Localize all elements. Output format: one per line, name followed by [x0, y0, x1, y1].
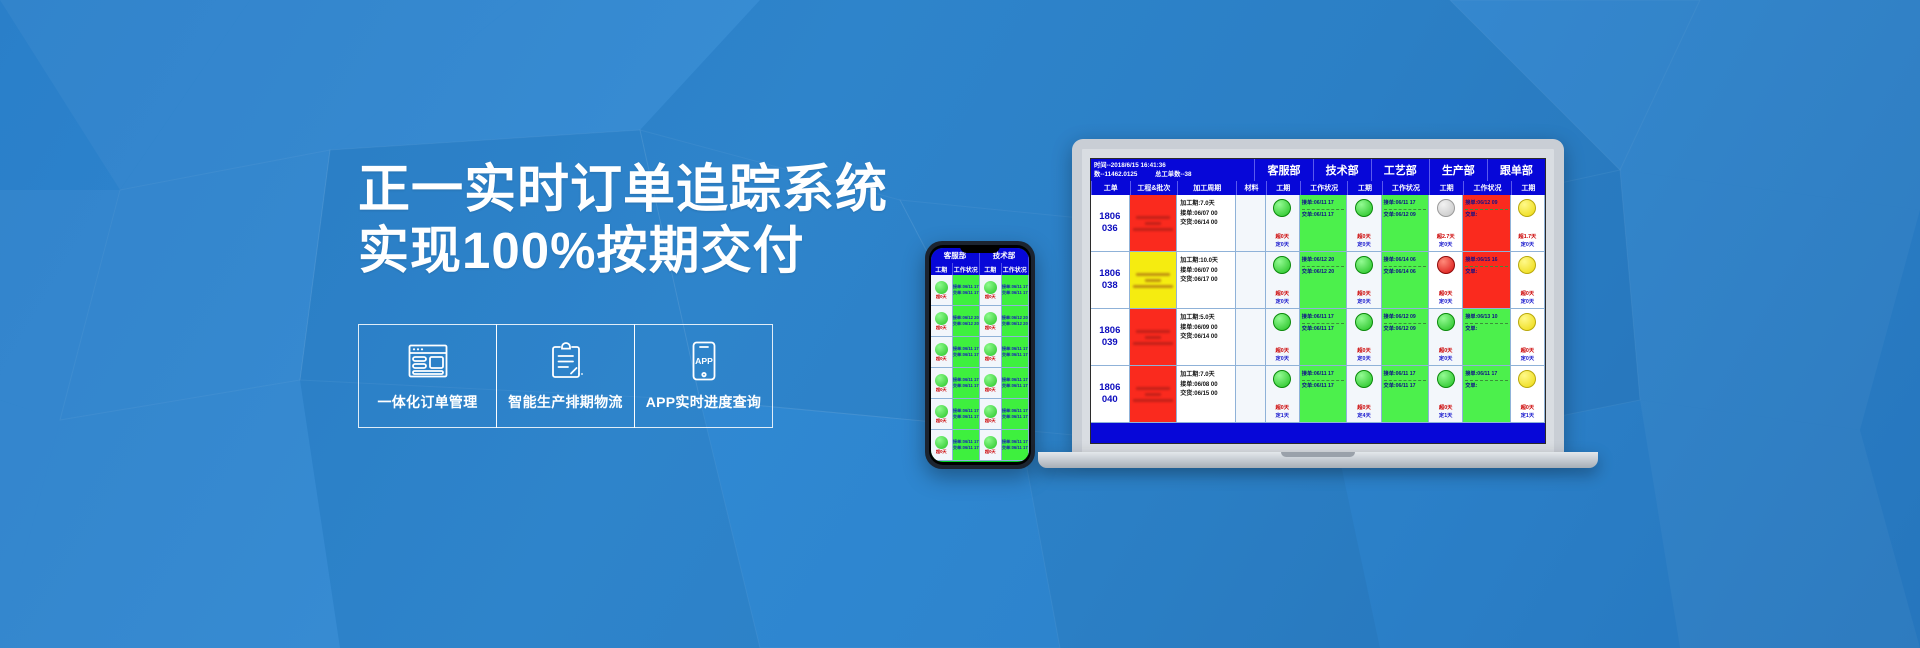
id-line2: 038	[1102, 280, 1118, 292]
planned-tag: 定0天	[1521, 299, 1535, 307]
phone-col-1: 工作状况	[953, 263, 980, 275]
department-header-4: 跟单部	[1487, 159, 1545, 181]
column-header-row: 工单工程&批次加工周期材料工期工作状况工期工作状况工期工作状况工期工作状况工期工…	[1091, 181, 1545, 195]
work-status-cell: 接单:交单:	[1545, 195, 1546, 251]
status-indicator-green	[1355, 256, 1373, 274]
status-indicator-yellow	[1518, 313, 1536, 331]
duration-cell: 超0天定1天	[1266, 366, 1300, 422]
received-date: 接单:06/11 17	[1302, 199, 1345, 207]
phone-status-cell: 接单:06/11 17交单:06/11 17	[1002, 275, 1029, 305]
duration-cell: 超0天定0天	[1347, 309, 1381, 365]
divider	[1302, 380, 1345, 381]
feature-item-order-management[interactable]: 一体化订单管理	[358, 324, 497, 428]
mobile-device-mockup: 客服部 技术部 工期 工作状况 工期 工作状况 超0天接单:06/11 17交单…	[925, 241, 1035, 469]
planned-tag: 定0天	[1357, 356, 1371, 364]
received-date: 接单:06/11 17	[1384, 199, 1427, 207]
delivered-date: 交单:	[1465, 382, 1508, 390]
work-order-id: 1806036	[1091, 195, 1130, 251]
overdue-tag: 超0天	[936, 356, 947, 362]
dashboard-meta-bar: 时间--2018/6/15 16:41:36 数--11462.0125 总工单…	[1091, 159, 1545, 181]
dashboard-window-icon	[408, 339, 448, 383]
phone-status-cell: 接单:06/12 20交单:06/12 20	[1002, 306, 1029, 336]
divider	[1465, 266, 1508, 267]
material-cell	[1236, 252, 1266, 308]
received-date: 接单:06/12 09	[1384, 313, 1427, 321]
overdue-tag: 超0天	[936, 294, 947, 300]
duration-cell: 超0天定0天	[1347, 195, 1381, 251]
duration-cell: 超2.7天定0天	[1429, 195, 1463, 251]
divider	[1384, 323, 1427, 324]
work-status-cell: 接单:06/15 16交单:	[1463, 252, 1511, 308]
work-status-cell: 接单:06/14 06交单:06/14 06	[1382, 252, 1430, 308]
cycle-line-1: 接单:06/08 00	[1180, 381, 1232, 390]
column-header-10: 工期	[1511, 181, 1545, 195]
planned-tag: 定0天	[1357, 299, 1371, 307]
department-header-1: 技术部	[1313, 159, 1371, 181]
delivered-date: 交单:06/11 17	[1002, 383, 1028, 389]
status-indicator-green	[984, 405, 997, 418]
phone-duration-cell: 超0天	[931, 275, 953, 305]
planned-tag: 定0天	[1439, 299, 1453, 307]
feature-label: APP实时进度查询	[646, 392, 762, 412]
app-icon-text: APP	[695, 356, 713, 366]
redacted-text	[1145, 279, 1161, 282]
delivered-date: 交单:06/11 17	[1002, 445, 1028, 451]
status-indicator-green	[935, 343, 948, 356]
status-indicator-green	[1273, 199, 1291, 217]
dashboard-count: 数--11462.0125	[1094, 171, 1137, 178]
overdue-tag: 超0天	[936, 449, 947, 455]
column-header-7: 工作状况	[1382, 181, 1430, 195]
planned-tag: 定0天	[1518, 242, 1536, 250]
divider	[1465, 209, 1508, 210]
status-indicator-green	[1437, 313, 1455, 331]
project-batch-cell	[1130, 252, 1178, 308]
redacted-text	[1136, 387, 1170, 390]
department-header-2: 工艺部	[1371, 159, 1429, 181]
redacted-text	[1136, 216, 1170, 219]
id-line1: 1806	[1099, 325, 1120, 337]
duration-cell: 超1.7天定0天	[1511, 195, 1545, 251]
duration-cell: 超0天定0天	[1266, 252, 1300, 308]
planned-tag: 定0天	[1276, 299, 1290, 307]
planned-tag: 定0天	[1437, 242, 1455, 250]
work-status-cell: 接单:06/13 10交单:	[1463, 309, 1511, 365]
feature-label: 智能生产排期物流	[508, 392, 622, 412]
laptop-lid: 时间--2018/6/15 16:41:36 数--11462.0125 总工单…	[1072, 139, 1564, 452]
status-indicator-green	[1355, 370, 1373, 388]
cycle-line-1: 接单:06/07 00	[1180, 267, 1232, 276]
cycle-line-0: 加工期:7.0天	[1180, 371, 1232, 380]
processing-cycle-cell: 加工期:7.0天接单:06/08 00交货:06/15 00	[1177, 366, 1236, 422]
delivered-date: 交单:06/12 09	[1384, 325, 1427, 333]
delivered-date: 交单:06/11 17	[953, 383, 979, 389]
planned-tag: 定0天	[1521, 356, 1535, 364]
phone-duration-cell: 超0天	[980, 399, 1002, 429]
status-indicator-green	[935, 405, 948, 418]
delivered-date: 交单:06/12 09	[1384, 211, 1427, 219]
cycle-line-0: 加工期:7.0天	[1180, 200, 1232, 209]
feature-list: 一体化订单管理 智能生产排期物流	[358, 324, 878, 428]
phone-duration-cell: 超0天	[980, 337, 1002, 367]
status-indicator-green	[935, 312, 948, 325]
dashboard-time: 时间--2018/6/15 16:41:36	[1094, 161, 1251, 170]
received-date: 接单:06/11 17	[1302, 313, 1345, 321]
duration-cell: 超0天定0天	[1429, 252, 1463, 308]
mobile-app-icon: APP	[690, 339, 718, 383]
work-status-cell: 接单:06/11 17交单:06/11 17	[1300, 309, 1348, 365]
processing-cycle-cell: 加工期:10.0天接单:06/07 00交货:06/17 00	[1177, 252, 1236, 308]
divider	[1465, 323, 1508, 324]
department-header-3: 生产部	[1429, 159, 1487, 181]
feature-label: 一体化订单管理	[377, 392, 477, 412]
status-indicator-green	[984, 281, 997, 294]
duration-cell: 超0天定0天	[1511, 309, 1545, 365]
phone-status-cell: 接单:06/11 17交单:06/11 17	[1002, 399, 1029, 429]
redacted-text	[1133, 228, 1173, 231]
phone-body: 客服部 技术部 工期 工作状况 工期 工作状况 超0天接单:06/11 17交单…	[929, 245, 1031, 465]
status-indicator-green	[984, 312, 997, 325]
delivered-date: 交单:06/11 17	[1002, 290, 1028, 296]
delivered-date: 交单:	[1465, 268, 1508, 276]
cycle-line-2: 交货:06/17 00	[1180, 276, 1232, 285]
received-date: 接单:06/12 20	[1302, 256, 1345, 264]
divider	[1302, 266, 1345, 267]
column-header-1: 工程&批次	[1130, 181, 1178, 195]
overdue-tag: 超0天	[985, 294, 996, 300]
status-indicator-green	[1273, 313, 1291, 331]
feature-item-smart-scheduling[interactable]: 智能生产排期物流	[496, 324, 635, 428]
phone-status-cell: 接单:06/11 17交单:06/11 17	[953, 368, 980, 398]
redacted-text	[1133, 399, 1173, 402]
id-line2: 040	[1102, 394, 1118, 406]
divider	[1302, 323, 1345, 324]
status-indicator-yellow	[1518, 256, 1536, 274]
phone-duration-cell: 超0天	[931, 368, 953, 398]
status-indicator-green	[1355, 199, 1373, 217]
overdue-tag: 超0天	[985, 449, 996, 455]
status-indicator-green	[935, 436, 948, 449]
planned-tag: 定4天	[1357, 413, 1371, 421]
phone-table-row[interactable]: 超0天接单:06/11 17交单:06/11 17超0天接单:06/11 17交…	[931, 275, 1029, 306]
cycle-line-0: 加工期:5.0天	[1180, 314, 1232, 323]
page-title-line2: 实现100%按期交付	[358, 221, 878, 281]
delivered-date: 交单:06/12 20	[1302, 268, 1345, 276]
id-line2: 036	[1102, 223, 1118, 235]
redacted-text	[1133, 285, 1173, 288]
column-header-3: 材料	[1236, 181, 1266, 195]
phone-duration-cell: 超0天	[980, 430, 1002, 460]
phone-table-row[interactable]: 超0天接单:06/11 17交单:06/11 17超0天接单:06/11 17交…	[931, 399, 1029, 430]
phone-notch	[960, 245, 1000, 253]
status-indicator-green	[1273, 370, 1291, 388]
work-status-cell: 接单:06/12 09交单:06/12 09	[1382, 309, 1430, 365]
received-date: 接单:06/11 17	[1384, 370, 1427, 378]
table-row[interactable]: 1806038加工期:10.0天接单:06/07 00交货:06/17 00超0…	[1091, 252, 1545, 309]
work-status-cell: 接单:06/11 17交单:	[1463, 366, 1511, 422]
feature-item-app-progress[interactable]: APP APP实时进度查询	[634, 324, 773, 428]
phone-status-cell: 接单:06/11 17交单:06/11 17	[953, 337, 980, 367]
work-status-cell: 接单:06/12 09交单:	[1463, 195, 1511, 251]
redacted-text	[1145, 222, 1161, 225]
phone-table-row[interactable]: 超0天接单:06/11 17交单:06/11 17超0天接单:06/11 17交…	[931, 368, 1029, 399]
planned-tag: 定0天	[1357, 242, 1371, 250]
planned-tag: 定0天	[1276, 356, 1290, 364]
planned-tag: 定1天	[1439, 413, 1453, 421]
processing-cycle-cell: 加工期:7.0天接单:06/07 00交货:06/14 00	[1177, 195, 1236, 251]
clipboard-pencil-icon	[549, 339, 583, 383]
overdue-tag: 超0天	[936, 387, 947, 393]
dashboard-row-list: 1806036加工期:7.0天接单:06/07 00交货:06/14 00超0天…	[1091, 195, 1545, 423]
work-status-cell: 接单:交单:	[1545, 366, 1546, 422]
divider	[1384, 209, 1427, 210]
delivered-date: 交单:06/11 17	[953, 352, 979, 358]
delivered-date: 交单:06/11 17	[1302, 325, 1345, 333]
divider	[1384, 380, 1427, 381]
redacted-text	[1145, 393, 1161, 396]
work-order-id: 1806039	[1091, 309, 1130, 365]
delivered-date: 交单:06/11 17	[1302, 211, 1345, 219]
status-indicator-gray	[1437, 199, 1455, 217]
planned-tag: 定1天	[1521, 413, 1535, 421]
delivered-date: 交单:06/12 20	[953, 321, 979, 327]
delivered-date: 交单:	[1465, 211, 1508, 219]
planned-tag: 定0天	[1276, 242, 1290, 250]
planned-tag: 定1天	[1276, 413, 1290, 421]
phone-status-cell: 接单:06/11 17交单:06/11 17	[1002, 430, 1029, 460]
delivered-date: 交单:06/12 20	[1002, 321, 1028, 327]
column-header-4: 工期	[1266, 181, 1300, 195]
id-line2: 039	[1102, 337, 1118, 349]
processing-cycle-cell: 加工期:5.0天接单:06/09 00交货:06/14 00	[1177, 309, 1236, 365]
column-header-0: 工单	[1091, 181, 1130, 195]
phone-status-cell: 接单:06/11 17交单:06/11 17	[953, 399, 980, 429]
phone-duration-cell: 超0天	[980, 275, 1002, 305]
status-indicator-green	[935, 374, 948, 387]
phone-status-cell: 接单:06/12 20交单:06/12 20	[953, 306, 980, 336]
column-header-8: 工期	[1429, 181, 1463, 195]
duration-cell: 超0天定0天	[1347, 252, 1381, 308]
phone-row-list: 超0天接单:06/11 17交单:06/11 17超0天接单:06/11 17交…	[931, 275, 1029, 461]
phone-duration-cell: 超0天	[931, 399, 953, 429]
material-cell	[1236, 366, 1266, 422]
id-line1: 1806	[1099, 382, 1120, 394]
duration-cell: 超0天定0天	[1266, 309, 1300, 365]
laptop-device-mockup: 时间--2018/6/15 16:41:36 数--11462.0125 总工单…	[1038, 139, 1598, 468]
planned-tag: 定0天	[1439, 356, 1453, 364]
phone-duration-cell: 超0天	[980, 306, 1002, 336]
phone-table-row[interactable]: 超0天接单:06/12 20交单:06/12 20超0天接单:06/12 20交…	[931, 306, 1029, 337]
work-status-cell: 接单:交单:	[1545, 252, 1546, 308]
phone-col-2: 工期	[980, 263, 1002, 275]
overdue-tag: 超0天	[985, 325, 996, 331]
delivered-date: 交单:	[1465, 325, 1508, 333]
work-status-cell: 接单:06/11 17交单:06/11 17	[1300, 366, 1348, 422]
overdue-tag: 超0天	[985, 387, 996, 393]
work-status-cell: 接单:06/11 17交单:06/12 09	[1382, 195, 1430, 251]
material-cell	[1236, 309, 1266, 365]
duration-cell: 超0天定1天	[1429, 366, 1463, 422]
phone-status-cell: 接单:06/11 17交单:06/11 17	[953, 430, 980, 460]
column-header-6: 工期	[1347, 181, 1381, 195]
phone-col-0: 工期	[931, 263, 953, 275]
project-batch-cell	[1130, 366, 1178, 422]
dashboard-meta-left: 时间--2018/6/15 16:41:36 数--11462.0125 总工单…	[1091, 159, 1254, 181]
material-cell	[1236, 195, 1266, 251]
redacted-text	[1136, 330, 1170, 333]
status-indicator-green	[984, 343, 997, 356]
delivered-date: 交单:06/11 17	[1384, 382, 1427, 390]
status-indicator-green	[984, 374, 997, 387]
column-header-2: 加工周期	[1177, 181, 1236, 195]
cycle-line-1: 接单:06/09 00	[1180, 324, 1232, 333]
column-header-9: 工作状况	[1463, 181, 1511, 195]
table-row[interactable]: 1806040加工期:7.0天接单:06/08 00交货:06/15 00超0天…	[1091, 366, 1545, 423]
status-indicator-green	[1355, 313, 1373, 331]
phone-status-cell: 接单:06/11 17交单:06/11 17	[1002, 368, 1029, 398]
delivered-date: 交单:06/14 06	[1384, 268, 1427, 276]
status-indicator-red	[1437, 256, 1455, 274]
work-status-cell: 接单:交单:	[1545, 309, 1546, 365]
department-header-row: 客服部技术部工艺部生产部跟单部	[1254, 159, 1545, 181]
project-batch-cell	[1130, 309, 1178, 365]
delivered-date: 交单:06/11 17	[1002, 414, 1028, 420]
id-line1: 1806	[1099, 211, 1120, 223]
phone-col-3: 工作状况	[1002, 263, 1029, 275]
id-line1: 1806	[1099, 268, 1120, 280]
phone-duration-cell: 超0天	[931, 430, 953, 460]
dashboard-total: 总工单数--38	[1155, 171, 1191, 178]
status-indicator-yellow	[1518, 199, 1536, 217]
duration-cell: 超0天定0天	[1429, 309, 1463, 365]
phone-screen[interactable]: 客服部 技术部 工期 工作状况 工期 工作状况 超0天接单:06/11 17交单…	[931, 248, 1029, 462]
status-indicator-green	[1437, 370, 1455, 388]
dashboard-counts: 数--11462.0125 总工单数--38	[1094, 170, 1251, 179]
overdue-tag: 超0天	[936, 418, 947, 424]
table-row[interactable]: 1806039加工期:5.0天接单:06/09 00交货:06/14 00超0天…	[1091, 309, 1545, 366]
received-date: 接单:06/11 17	[1302, 370, 1345, 378]
overdue-tag: 超0天	[936, 325, 947, 331]
phone-status-cell: 接单:06/11 17交单:06/11 17	[953, 275, 980, 305]
delivered-date: 交单:06/11 17	[953, 290, 979, 296]
divider	[1465, 380, 1508, 381]
overdue-tag: 超0天	[985, 418, 996, 424]
department-header-0: 客服部	[1254, 159, 1312, 181]
received-date: 接单:06/11 17	[1465, 370, 1508, 378]
work-status-cell: 接单:06/12 20交单:06/12 20	[1300, 252, 1348, 308]
duration-cell: 超0天定4天	[1347, 366, 1381, 422]
received-date: 接单:06/12 09	[1465, 199, 1508, 207]
cycle-line-2: 交货:06/15 00	[1180, 390, 1232, 399]
duration-cell: 超0天定0天	[1511, 252, 1545, 308]
work-status-cell: 接单:06/11 17交单:06/11 17	[1382, 366, 1430, 422]
cycle-line-2: 交货:06/14 00	[1180, 333, 1232, 342]
phone-duration-cell: 超0天	[931, 306, 953, 336]
column-header-5: 工作状况	[1300, 181, 1348, 195]
work-order-id: 1806040	[1091, 366, 1130, 422]
project-batch-cell	[1130, 195, 1178, 251]
laptop-screen[interactable]: 时间--2018/6/15 16:41:36 数--11462.0125 总工单…	[1090, 158, 1546, 444]
phone-duration-cell: 超0天	[931, 337, 953, 367]
delivered-date: 交单:06/11 17	[1302, 382, 1345, 390]
redacted-text	[1136, 273, 1170, 276]
received-date: 接单:06/15 16	[1465, 256, 1508, 264]
column-header-11: 工作状况	[1545, 181, 1546, 195]
status-indicator-green	[1273, 256, 1291, 274]
received-date: 接单:06/14 06	[1384, 256, 1427, 264]
phone-table-row[interactable]: 超0天接单:06/11 17交单:06/11 17超0天接单:06/11 17交…	[931, 430, 1029, 461]
phone-table-row[interactable]: 超0天接单:06/11 17交单:06/11 17超0天接单:06/11 17交…	[931, 337, 1029, 368]
phone-duration-cell: 超0天	[980, 368, 1002, 398]
redacted-text	[1133, 342, 1173, 345]
divider	[1384, 266, 1427, 267]
duration-cell: 超0天定0天	[1266, 195, 1300, 251]
divider	[1302, 209, 1345, 210]
work-status-cell: 接单:06/11 17交单:06/11 17	[1300, 195, 1348, 251]
status-indicator-green	[935, 281, 948, 294]
page-title-line1: 正一实时订单追踪系统	[358, 160, 878, 221]
status-indicator-green	[984, 436, 997, 449]
phone-column-header: 工期 工作状况 工期 工作状况	[931, 263, 1029, 275]
delivered-date: 交单:06/11 17	[953, 445, 979, 451]
table-row[interactable]: 1806036加工期:7.0天接单:06/07 00交货:06/14 00超0天…	[1091, 195, 1545, 252]
work-order-id: 1806038	[1091, 252, 1130, 308]
order-tracking-dashboard: 时间--2018/6/15 16:41:36 数--11462.0125 总工单…	[1091, 159, 1545, 423]
status-indicator-yellow	[1518, 370, 1536, 388]
laptop-base	[1038, 452, 1598, 468]
phone-status-cell: 接单:06/11 17交单:06/11 17	[1002, 337, 1029, 367]
delivered-date: 交单:06/11 17	[953, 414, 979, 420]
redacted-text	[1145, 336, 1161, 339]
delivered-date: 交单:06/11 17	[1002, 352, 1028, 358]
received-date: 接单:06/13 10	[1465, 313, 1508, 321]
cycle-line-1: 接单:06/07 00	[1180, 210, 1232, 219]
hero-copy: 正一实时订单追踪系统 实现100%按期交付 一体化订单管理	[358, 160, 878, 428]
duration-cell: 超0天定1天	[1511, 366, 1545, 422]
cycle-line-0: 加工期:10.0天	[1180, 257, 1232, 266]
cycle-line-2: 交货:06/14 00	[1180, 219, 1232, 228]
overdue-tag: 超0天	[985, 356, 996, 362]
